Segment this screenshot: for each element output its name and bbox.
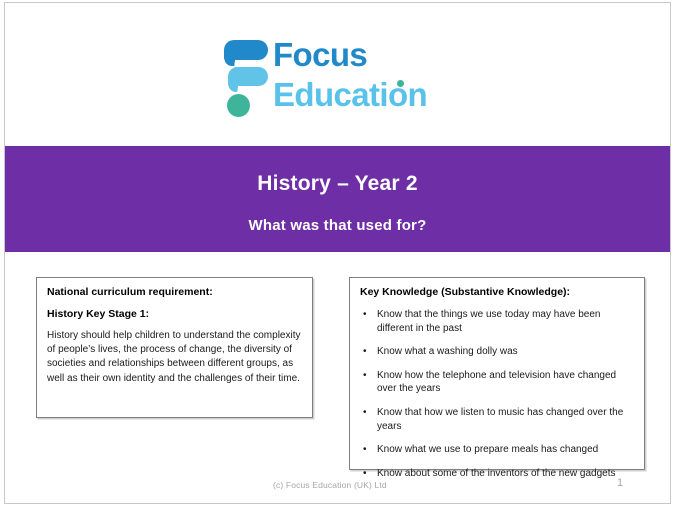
list-item-label: Know how the telephone and television ha…: [377, 370, 616, 395]
slide-page: Focus Education History – Year 2 What wa…: [4, 2, 671, 504]
bullet-icon: •: [363, 308, 367, 322]
key-knowledge-box: Key Knowledge (Substantive Knowledge): •…: [349, 277, 645, 470]
left-box-heading: National curriculum requirement:: [47, 286, 302, 299]
logo-education-i-dot-icon: [397, 80, 404, 87]
list-item: • Know what we use to prepare meals has …: [360, 443, 636, 457]
list-item: • Know how the telephone and television …: [360, 369, 636, 396]
logo-wordmark-line-focus: Focus: [273, 35, 427, 75]
logo-wordmark-education-text: Education: [273, 76, 427, 113]
list-item: • Know that how we listen to music has c…: [360, 406, 636, 433]
right-box-heading: Key Knowledge (Substantive Knowledge):: [360, 286, 636, 299]
focus-education-f-mark-icon: [217, 37, 269, 121]
list-item-label: Know about some of the inventors of the …: [377, 468, 616, 479]
footer-page-number: 1: [617, 477, 623, 489]
list-item: • Know that the things we use today may …: [360, 308, 636, 335]
focus-education-logo: Focus Education: [217, 35, 457, 123]
key-knowledge-list: • Know that the things we use today may …: [360, 308, 636, 480]
list-item-label: Know what we use to prepare meals has ch…: [377, 444, 598, 455]
logo-mark-middle-tail: [227, 81, 239, 92]
list-item-label: Know what a washing dolly was: [377, 346, 518, 357]
national-curriculum-requirement-box: National curriculum requirement: History…: [36, 277, 313, 418]
list-item: • Know what a washing dolly was: [360, 345, 636, 359]
logo-wordmark-line-education: Education: [273, 75, 427, 115]
bullet-icon: •: [363, 443, 367, 457]
list-item-label: Know that the things we use today may ha…: [377, 309, 600, 334]
banner-title: History – Year 2: [5, 172, 670, 196]
bullet-icon: •: [363, 345, 367, 359]
left-box-subheading: History Key Stage 1:: [47, 308, 302, 321]
list-item: • Know about some of the inventors of th…: [360, 467, 636, 481]
banner-subtitle: What was that used for?: [5, 217, 670, 234]
bullet-icon: •: [363, 467, 367, 481]
footer-copyright: (c) Focus Education (UK) Ltd: [273, 480, 387, 490]
left-box-body-text: History should help children to understa…: [47, 329, 302, 386]
logo-header-band: Focus Education: [5, 3, 670, 146]
title-banner: History – Year 2 What was that used for?: [5, 146, 670, 252]
bullet-icon: •: [363, 406, 367, 420]
logo-wordmark: Focus Education: [273, 35, 427, 115]
bullet-icon: •: [363, 369, 367, 383]
list-item-label: Know that how we listen to music has cha…: [377, 407, 623, 432]
logo-mark-circle-icon: [227, 94, 250, 117]
logo-mark-top-tail: [223, 55, 236, 66]
